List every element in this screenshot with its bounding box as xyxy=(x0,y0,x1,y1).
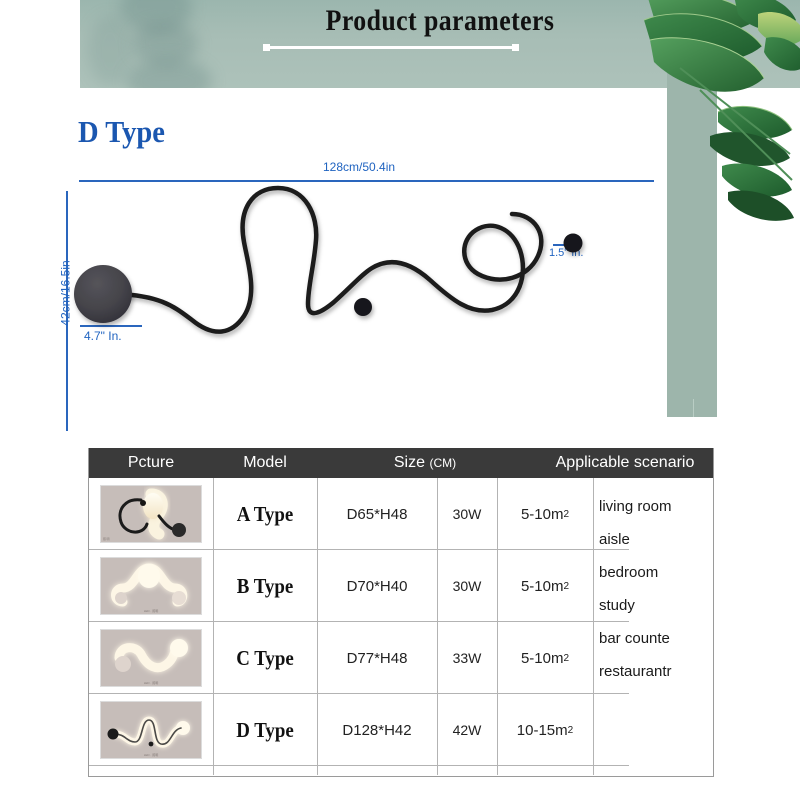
column-header-picture: Pcture xyxy=(89,448,213,478)
area-value: 5-10m xyxy=(521,578,564,595)
model-cell: A Type xyxy=(218,478,312,550)
scenario-item: study xyxy=(599,589,713,622)
product-thumbnail-cell: LED · 照明 xyxy=(89,694,213,766)
thumbnail-watermark: LED · 照明 xyxy=(144,681,159,685)
column-header-size-text: Size xyxy=(394,454,425,471)
scenario-item: restaurantr xyxy=(599,655,713,688)
model-cell: B Type xyxy=(218,550,312,622)
area-value: 10-15m xyxy=(517,722,568,739)
power-cell: 42W xyxy=(437,694,497,766)
product-thumbnail-a: LED · 照明 xyxy=(100,485,202,543)
row-divider xyxy=(89,765,629,766)
specification-table: Pcture Model Size (CM) Applicable scenar… xyxy=(88,448,714,777)
model-cell: C Type xyxy=(218,622,312,694)
column-header-model: Model xyxy=(213,448,317,478)
applicable-scenario-cell: living room aisle bedroom study bar coun… xyxy=(593,478,713,775)
table-body: LED · 照明 A Type D65*H48 30W 5-10m2 xyxy=(89,478,713,775)
area-superscript: 2 xyxy=(563,653,569,664)
thumbnail-watermark: LED · 照明 xyxy=(144,609,159,613)
lamp-cord-illustration xyxy=(0,88,800,418)
thumbnail-watermark: LED · 照明 xyxy=(101,537,110,541)
banner-blob-decor xyxy=(126,58,212,88)
product-thumbnail-cell: LED · 照明 xyxy=(89,550,213,622)
column-header-size: Size (CM) xyxy=(317,448,533,478)
size-cell: D77*H48 xyxy=(317,622,437,694)
size-cell: D128*H42 xyxy=(317,694,437,766)
product-thumbnail-cell: LED · 照明 xyxy=(89,622,213,694)
product-thumbnail-b: LED · 照明 xyxy=(100,557,202,615)
area-superscript: 2 xyxy=(563,509,569,520)
product-parameters-page: Product parameters xyxy=(0,0,800,800)
area-value: 5-10m xyxy=(521,650,564,667)
scenario-item: living room xyxy=(599,490,713,523)
table-header-row: Pcture Model Size (CM) Applicable scenar… xyxy=(89,448,713,478)
product-thumbnail-cell: LED · 照明 xyxy=(89,478,213,550)
scenario-item: bar counte xyxy=(599,622,713,655)
banner-blob-decor xyxy=(88,16,132,86)
column-header-size-unit: (CM) xyxy=(429,456,456,470)
power-cell: 33W xyxy=(437,622,497,694)
product-thumbnail-d: LED · 照明 xyxy=(100,701,202,759)
title-divider xyxy=(268,46,514,49)
area-cell: 10-15m2 xyxy=(497,694,593,766)
power-cell: 30W xyxy=(437,478,497,550)
area-superscript: 2 xyxy=(563,581,569,592)
column-header-scenario: Applicable scenario xyxy=(533,448,713,478)
scenario-item: bedroom xyxy=(599,556,713,589)
product-thumbnail-c: LED · 照明 xyxy=(100,629,202,687)
size-cell: D65*H48 xyxy=(317,478,437,550)
size-cell: D70*H40 xyxy=(317,550,437,622)
scenario-item: aisle xyxy=(599,523,713,556)
power-cell: 30W xyxy=(437,550,497,622)
thumbnail-watermark: LED · 照明 xyxy=(144,753,159,757)
area-superscript: 2 xyxy=(568,725,574,736)
d-type-diagram: D Type 128cm/50.4in 42cm/16.5in 4.7" In.… xyxy=(0,88,800,418)
area-value: 5-10m xyxy=(521,506,564,523)
model-cell: D Type xyxy=(218,694,312,766)
area-cell: 5-10m2 xyxy=(497,550,593,622)
area-cell: 5-10m2 xyxy=(497,478,593,550)
area-cell: 5-10m2 xyxy=(497,622,593,694)
